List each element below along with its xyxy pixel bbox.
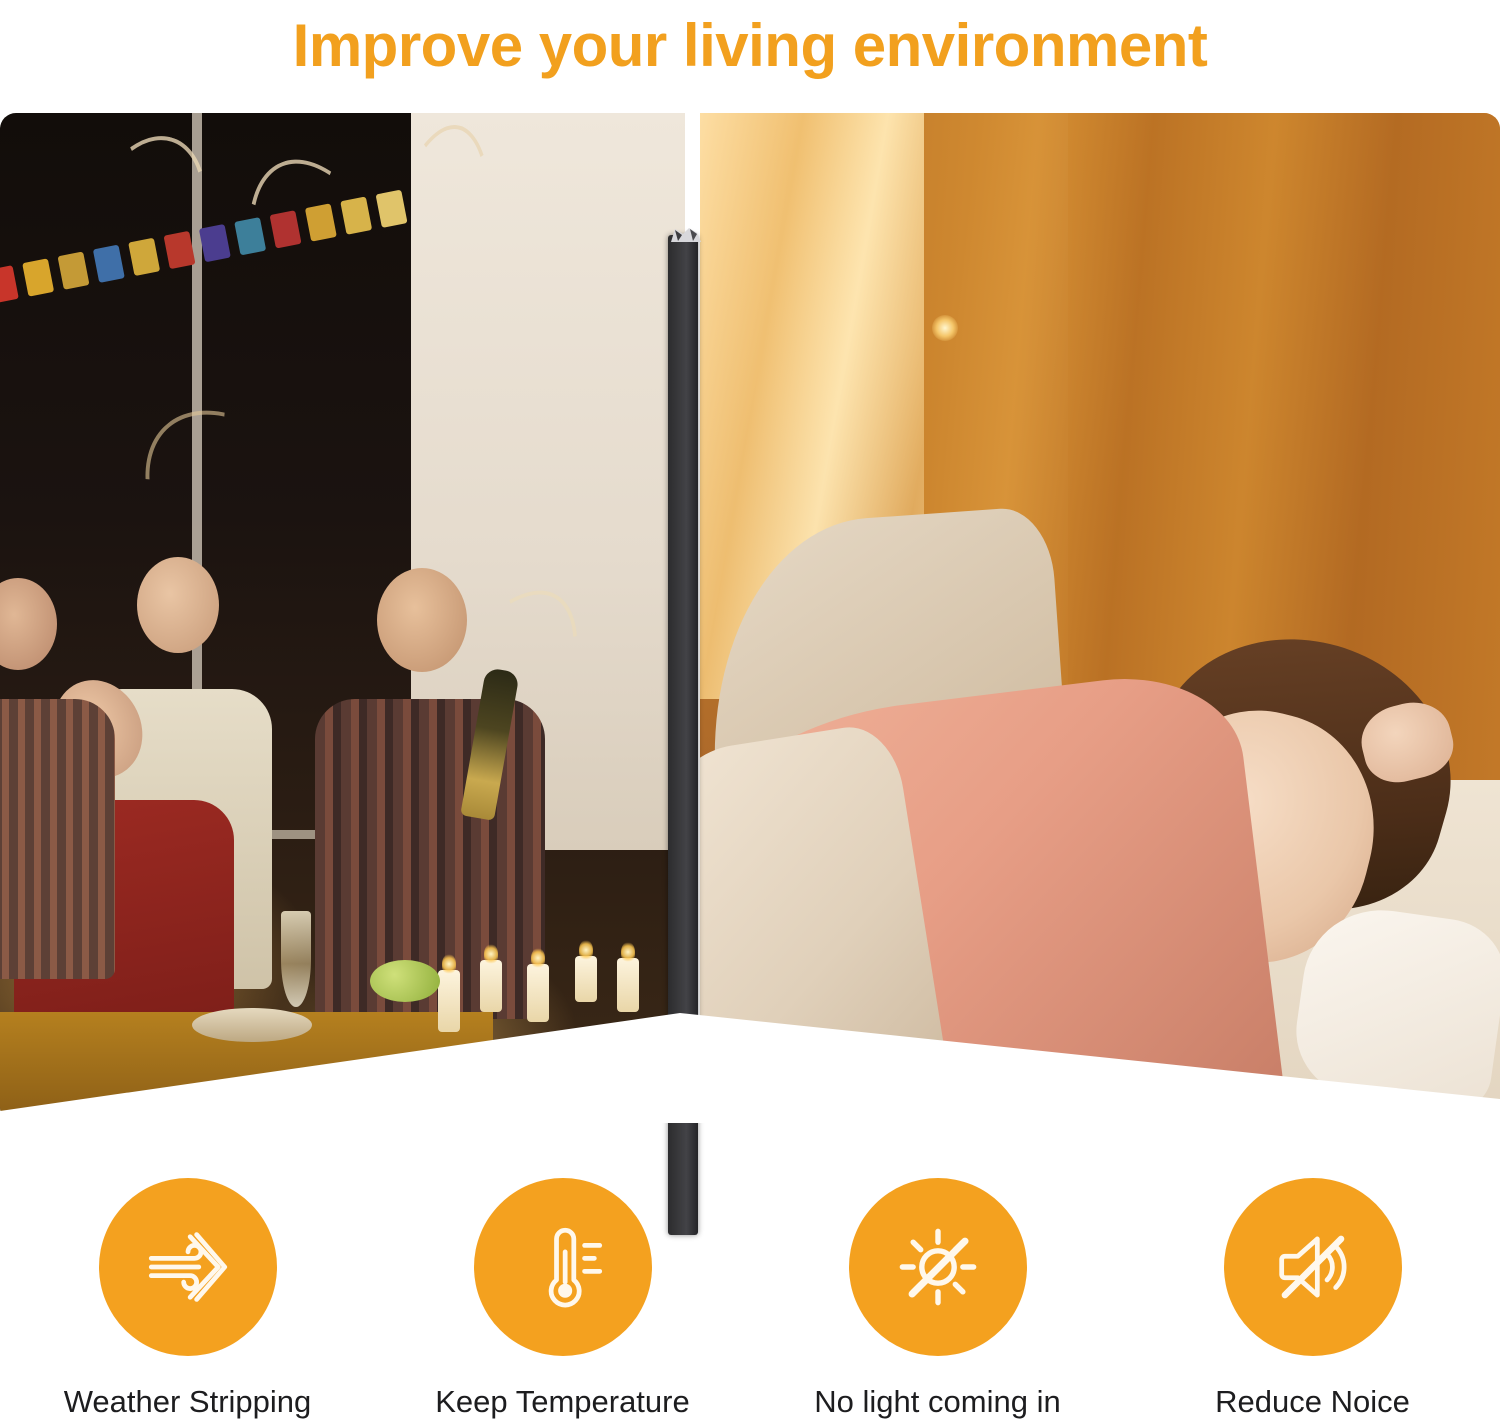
hero-photo-band [0, 113, 1500, 1123]
feature-icon-badge [1224, 1178, 1402, 1356]
champagne-flute [281, 911, 311, 1007]
candle [480, 960, 502, 1012]
weather-strip-cap-icon [669, 226, 703, 244]
feature-list: Weather Stripping Keep Temperature [0, 1178, 1500, 1423]
feature-item-weather-stripping[interactable]: Weather Stripping [0, 1178, 375, 1423]
product-feature-page: Improve your living environment [0, 0, 1500, 1423]
weather-strip-product [668, 235, 698, 1235]
fairy-light [932, 315, 958, 341]
candle [438, 970, 460, 1032]
feature-label: Weather Stripping [64, 1384, 312, 1420]
feature-label: Keep Temperature [435, 1384, 689, 1420]
banner-letter [22, 258, 54, 296]
feature-icon-badge [474, 1178, 652, 1356]
sun-slash-icon [884, 1213, 992, 1321]
candle [527, 964, 549, 1022]
candle [617, 958, 639, 1012]
feature-icon-badge [849, 1178, 1027, 1356]
feature-label: No light coming in [814, 1384, 1060, 1420]
party-person-head [137, 557, 219, 653]
party-photo [0, 113, 685, 1123]
sleeping-child-photo [700, 113, 1500, 1123]
wind-chevron-icon [134, 1213, 242, 1321]
grapes [370, 960, 440, 1002]
bedroom-scene-background [700, 113, 1500, 1123]
page-headline: Improve your living environment [0, 0, 1500, 92]
food-platter [192, 1008, 312, 1042]
feature-label: Reduce Noice [1215, 1384, 1410, 1420]
party-person-head [0, 578, 57, 670]
party-person-body [0, 699, 115, 979]
speaker-mute-icon [1259, 1213, 1367, 1321]
banner-letter [0, 264, 19, 302]
feature-item-no-light[interactable]: No light coming in [750, 1178, 1125, 1423]
thermometer-icon [509, 1213, 617, 1321]
candle [575, 956, 597, 1002]
party-scene-background [0, 113, 685, 1123]
party-person-head [377, 568, 467, 672]
feature-icon-badge [99, 1178, 277, 1356]
feature-item-reduce-noise[interactable]: Reduce Noice [1125, 1178, 1500, 1423]
